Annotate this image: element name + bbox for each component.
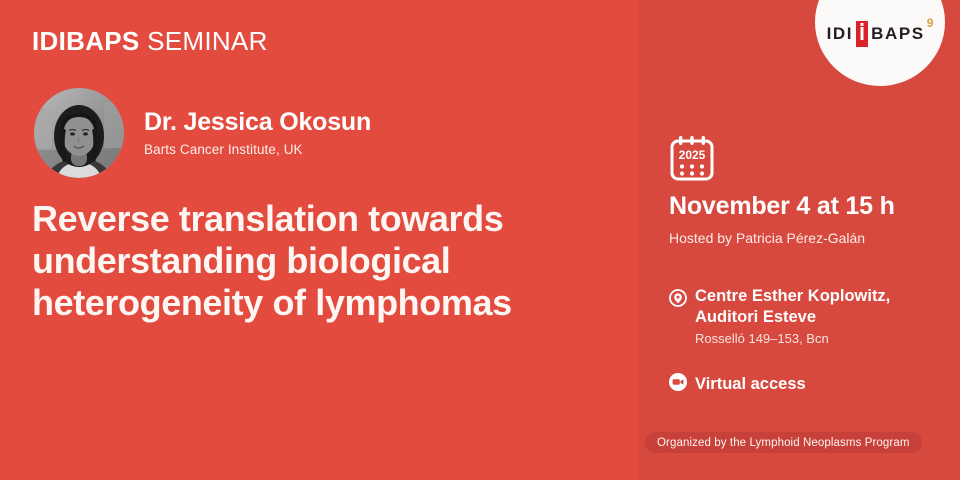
video-camera-icon	[669, 373, 687, 396]
logo-text-part-two: BAPS	[871, 25, 925, 42]
page-title: IDIBAPS SEMINAR	[32, 26, 268, 57]
venue-block: Centre Esther Koplowitz, Auditori Esteve…	[669, 286, 944, 346]
event-date: November 4 at 15 h	[669, 192, 895, 221]
event-host: Hosted by Patricia Pérez-Galán	[669, 230, 865, 246]
virtual-access-label: Virtual access	[695, 375, 806, 394]
venue-address: Rosselló 149–153, Bcn	[695, 331, 944, 346]
header-kind: SEMINAR	[147, 26, 268, 56]
organizer-text: Organized by the Lymphoid Neoplasms Prog…	[657, 437, 910, 449]
svg-text:2025: 2025	[679, 148, 706, 162]
organizer-badge: Organized by the Lymphoid Neoplasms Prog…	[645, 432, 922, 453]
logo-superscript: 9	[927, 16, 934, 30]
location-pin-icon	[669, 289, 687, 312]
logo-i-bar-icon	[856, 21, 868, 47]
speaker-affiliation: Barts Cancer Institute, UK	[144, 142, 371, 157]
avatar	[34, 88, 124, 178]
speaker-block: Dr. Jessica Okosun Barts Cancer Institut…	[34, 88, 371, 178]
calendar-icon: 2025	[669, 134, 715, 187]
talk-title: Reverse translation towards understandin…	[32, 198, 607, 324]
header-brand: IDIBAPS	[32, 26, 140, 56]
speaker-name: Dr. Jessica Okosun	[144, 109, 371, 137]
virtual-access-block[interactable]: Virtual access	[669, 373, 806, 396]
logo-text-part-one: IDI	[827, 25, 854, 42]
venue-name: Centre Esther Koplowitz, Auditori Esteve	[695, 286, 944, 327]
